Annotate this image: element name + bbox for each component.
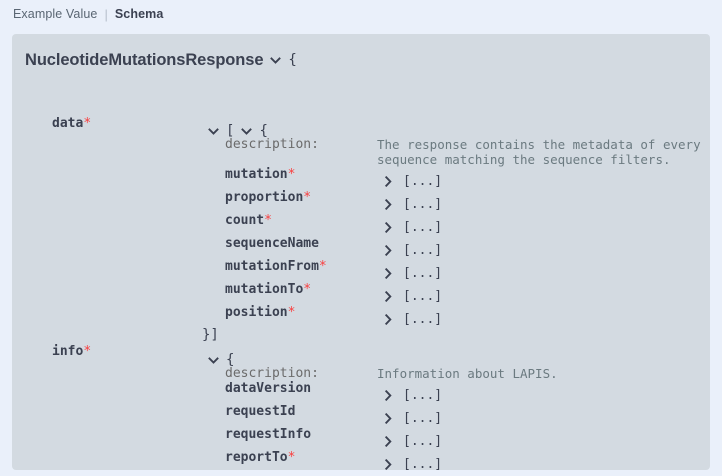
property-key-count: count*	[225, 214, 272, 227]
collapsed-value-mutationto[interactable]: [...]	[383, 290, 442, 303]
property-key-proportion: proportion*	[225, 191, 311, 204]
property-key-data: data*	[52, 117, 91, 130]
collapsed-value-requestid[interactable]: [...]	[383, 412, 442, 425]
collapsed-marker: [...]	[403, 175, 442, 188]
tab-schema[interactable]: Schema	[115, 7, 164, 21]
data-array-close: }]	[202, 328, 219, 342]
tab-separator: |	[104, 8, 107, 21]
description-label-info: description:	[225, 367, 319, 380]
chevron-right-icon[interactable]	[383, 176, 394, 187]
property-key-requestinfo: requestInfo	[225, 428, 311, 441]
chevron-right-icon[interactable]	[383, 222, 394, 233]
chevron-down-icon[interactable]	[208, 126, 219, 137]
collapsed-marker: [...]	[403, 458, 442, 470]
collapsed-marker: [...]	[403, 290, 442, 303]
collapsed-marker: [...]	[403, 221, 442, 234]
property-key-reportto: reportTo*	[225, 451, 295, 464]
chevron-right-icon[interactable]	[383, 390, 394, 401]
collapsed-value-sequencename[interactable]: [...]	[383, 244, 442, 257]
collapsed-marker: [...]	[403, 198, 442, 211]
object-open-brace: {	[226, 353, 234, 367]
chevron-right-icon[interactable]	[383, 268, 394, 279]
required-marker: *	[288, 167, 296, 182]
object-open-brace: {	[259, 124, 267, 138]
property-key-requestid: requestId	[225, 405, 295, 418]
array-open-bracket: [	[226, 124, 234, 138]
chevron-down-icon[interactable]	[208, 355, 219, 366]
tab-example-value[interactable]: Example Value	[13, 7, 97, 21]
model-title-row: NucleotideMutationsResponse {	[25, 52, 297, 69]
page-title: NucleotideMutationsResponse	[25, 52, 263, 69]
description-text-data: The response contains the metadata of ev…	[377, 137, 701, 167]
collapsed-value-mutation[interactable]: [...]	[383, 175, 442, 188]
chevron-right-icon[interactable]	[383, 199, 394, 210]
collapsed-value-mutationfrom[interactable]: [...]	[383, 267, 442, 280]
collapsed-value-reportto[interactable]: [...]	[383, 458, 442, 470]
required-marker: *	[303, 190, 311, 205]
chevron-down-icon[interactable]	[241, 126, 252, 137]
required-marker: *	[264, 213, 272, 228]
chevron-right-icon[interactable]	[383, 436, 394, 447]
description-text-info: Information about LAPIS.	[377, 366, 558, 381]
info-object-open-row: {	[208, 353, 234, 367]
required-marker: *	[83, 116, 91, 131]
property-key-dataversion: dataVersion	[225, 382, 311, 395]
required-marker: *	[288, 450, 296, 465]
data-array-open-row: [ {	[208, 124, 268, 138]
required-marker: *	[303, 282, 311, 297]
chevron-right-icon[interactable]	[383, 459, 394, 470]
collapsed-marker: [...]	[403, 267, 442, 280]
required-marker: *	[288, 305, 296, 320]
property-key-sequencename: sequenceName	[225, 237, 319, 250]
chevron-right-icon[interactable]	[383, 413, 394, 424]
collapsed-marker: [...]	[403, 412, 442, 425]
property-key-info: info*	[52, 345, 91, 358]
chevron-down-icon[interactable]	[270, 55, 281, 66]
schema-tabbar: Example Value | Schema	[0, 0, 722, 28]
description-label-data: description:	[225, 138, 319, 151]
collapsed-value-proportion[interactable]: [...]	[383, 198, 442, 211]
collapsed-value-dataversion[interactable]: [...]	[383, 389, 442, 402]
property-key-mutationto: mutationTo*	[225, 283, 311, 296]
chevron-right-icon[interactable]	[383, 245, 394, 256]
collapsed-marker: [...]	[403, 313, 442, 326]
property-key-position: position*	[225, 306, 295, 319]
collapsed-value-position[interactable]: [...]	[383, 313, 442, 326]
property-key-mutation: mutation*	[225, 168, 295, 181]
property-key-mutationfrom: mutationFrom*	[225, 260, 327, 273]
schema-panel: NucleotideMutationsResponse { data* [ { …	[12, 34, 710, 470]
collapsed-marker: [...]	[403, 389, 442, 402]
collapsed-value-requestinfo[interactable]: [...]	[383, 435, 442, 448]
chevron-right-icon[interactable]	[383, 314, 394, 325]
collapsed-marker: [...]	[403, 435, 442, 448]
collapsed-marker: [...]	[403, 244, 442, 257]
collapsed-value-count[interactable]: [...]	[383, 221, 442, 234]
chevron-right-icon[interactable]	[383, 291, 394, 302]
required-marker: *	[319, 259, 327, 274]
model-open-brace: {	[288, 53, 296, 67]
required-marker: *	[83, 344, 91, 359]
